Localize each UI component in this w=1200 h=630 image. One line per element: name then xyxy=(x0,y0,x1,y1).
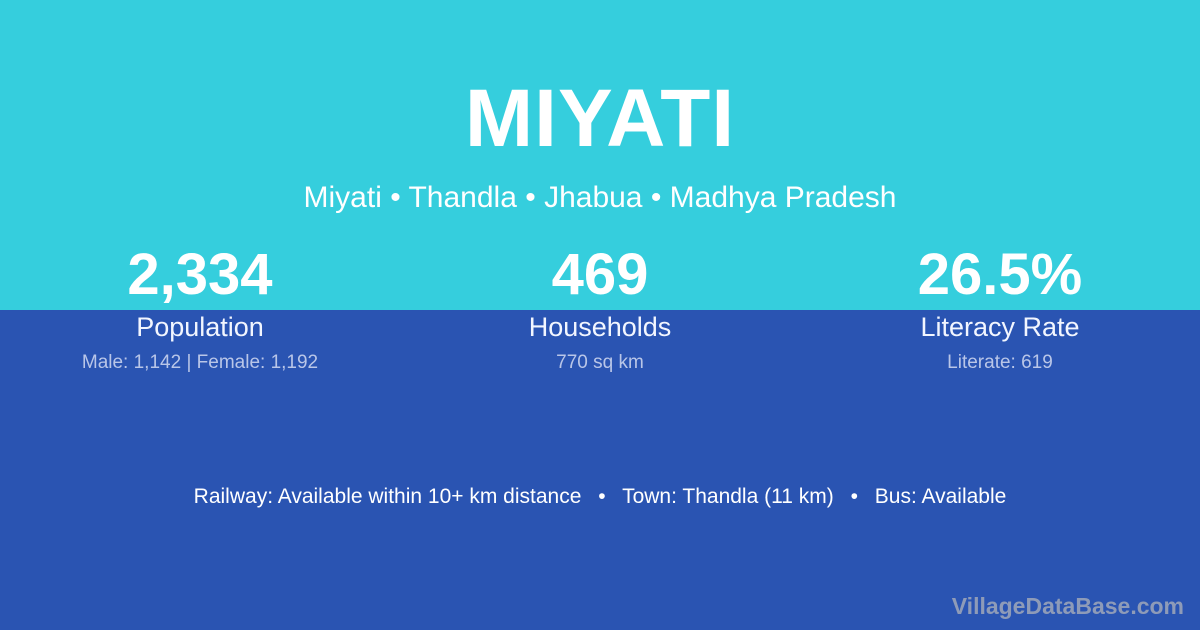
page-title: MIYATI xyxy=(0,0,1200,160)
amenity-bus: Bus: Available xyxy=(875,485,1007,508)
stat-value: 26.5% xyxy=(800,243,1200,308)
breadcrumb: Miyati • Thandla • Jhabua • Madhya Prade… xyxy=(0,160,1200,213)
card-header: MIYATI Miyati • Thandla • Jhabua • Madhy… xyxy=(0,0,1200,213)
site-brand: VillageDataBase.com xyxy=(952,595,1184,618)
stats-row: 2,334 Population Male: 1,142 | Female: 1… xyxy=(0,243,1200,374)
amenity-railway: Railway: Available within 10+ km distanc… xyxy=(194,485,582,508)
village-info-card: MIYATI Miyati • Thandla • Jhabua • Madhy… xyxy=(0,0,1200,630)
stat-population: 2,334 Population Male: 1,142 | Female: 1… xyxy=(0,243,400,374)
stat-label: Population xyxy=(0,308,400,343)
stat-detail: 770 sq km xyxy=(400,343,800,374)
stat-detail: Literate: 619 xyxy=(800,343,1200,374)
stat-label: Literacy Rate xyxy=(800,308,1200,343)
stat-value: 2,334 xyxy=(0,243,400,308)
stat-label: Households xyxy=(400,308,800,343)
stat-households: 469 Households 770 sq km xyxy=(400,243,800,374)
stat-value: 469 xyxy=(400,243,800,308)
amenities-line: Railway: Available within 10+ km distanc… xyxy=(0,486,1200,507)
bullet-separator-icon: • xyxy=(587,485,616,508)
amenity-town: Town: Thandla (11 km) xyxy=(622,485,834,508)
stat-detail: Male: 1,142 | Female: 1,192 xyxy=(0,343,400,374)
stat-literacy-rate: 26.5% Literacy Rate Literate: 619 xyxy=(800,243,1200,374)
bullet-separator-icon: • xyxy=(840,485,869,508)
